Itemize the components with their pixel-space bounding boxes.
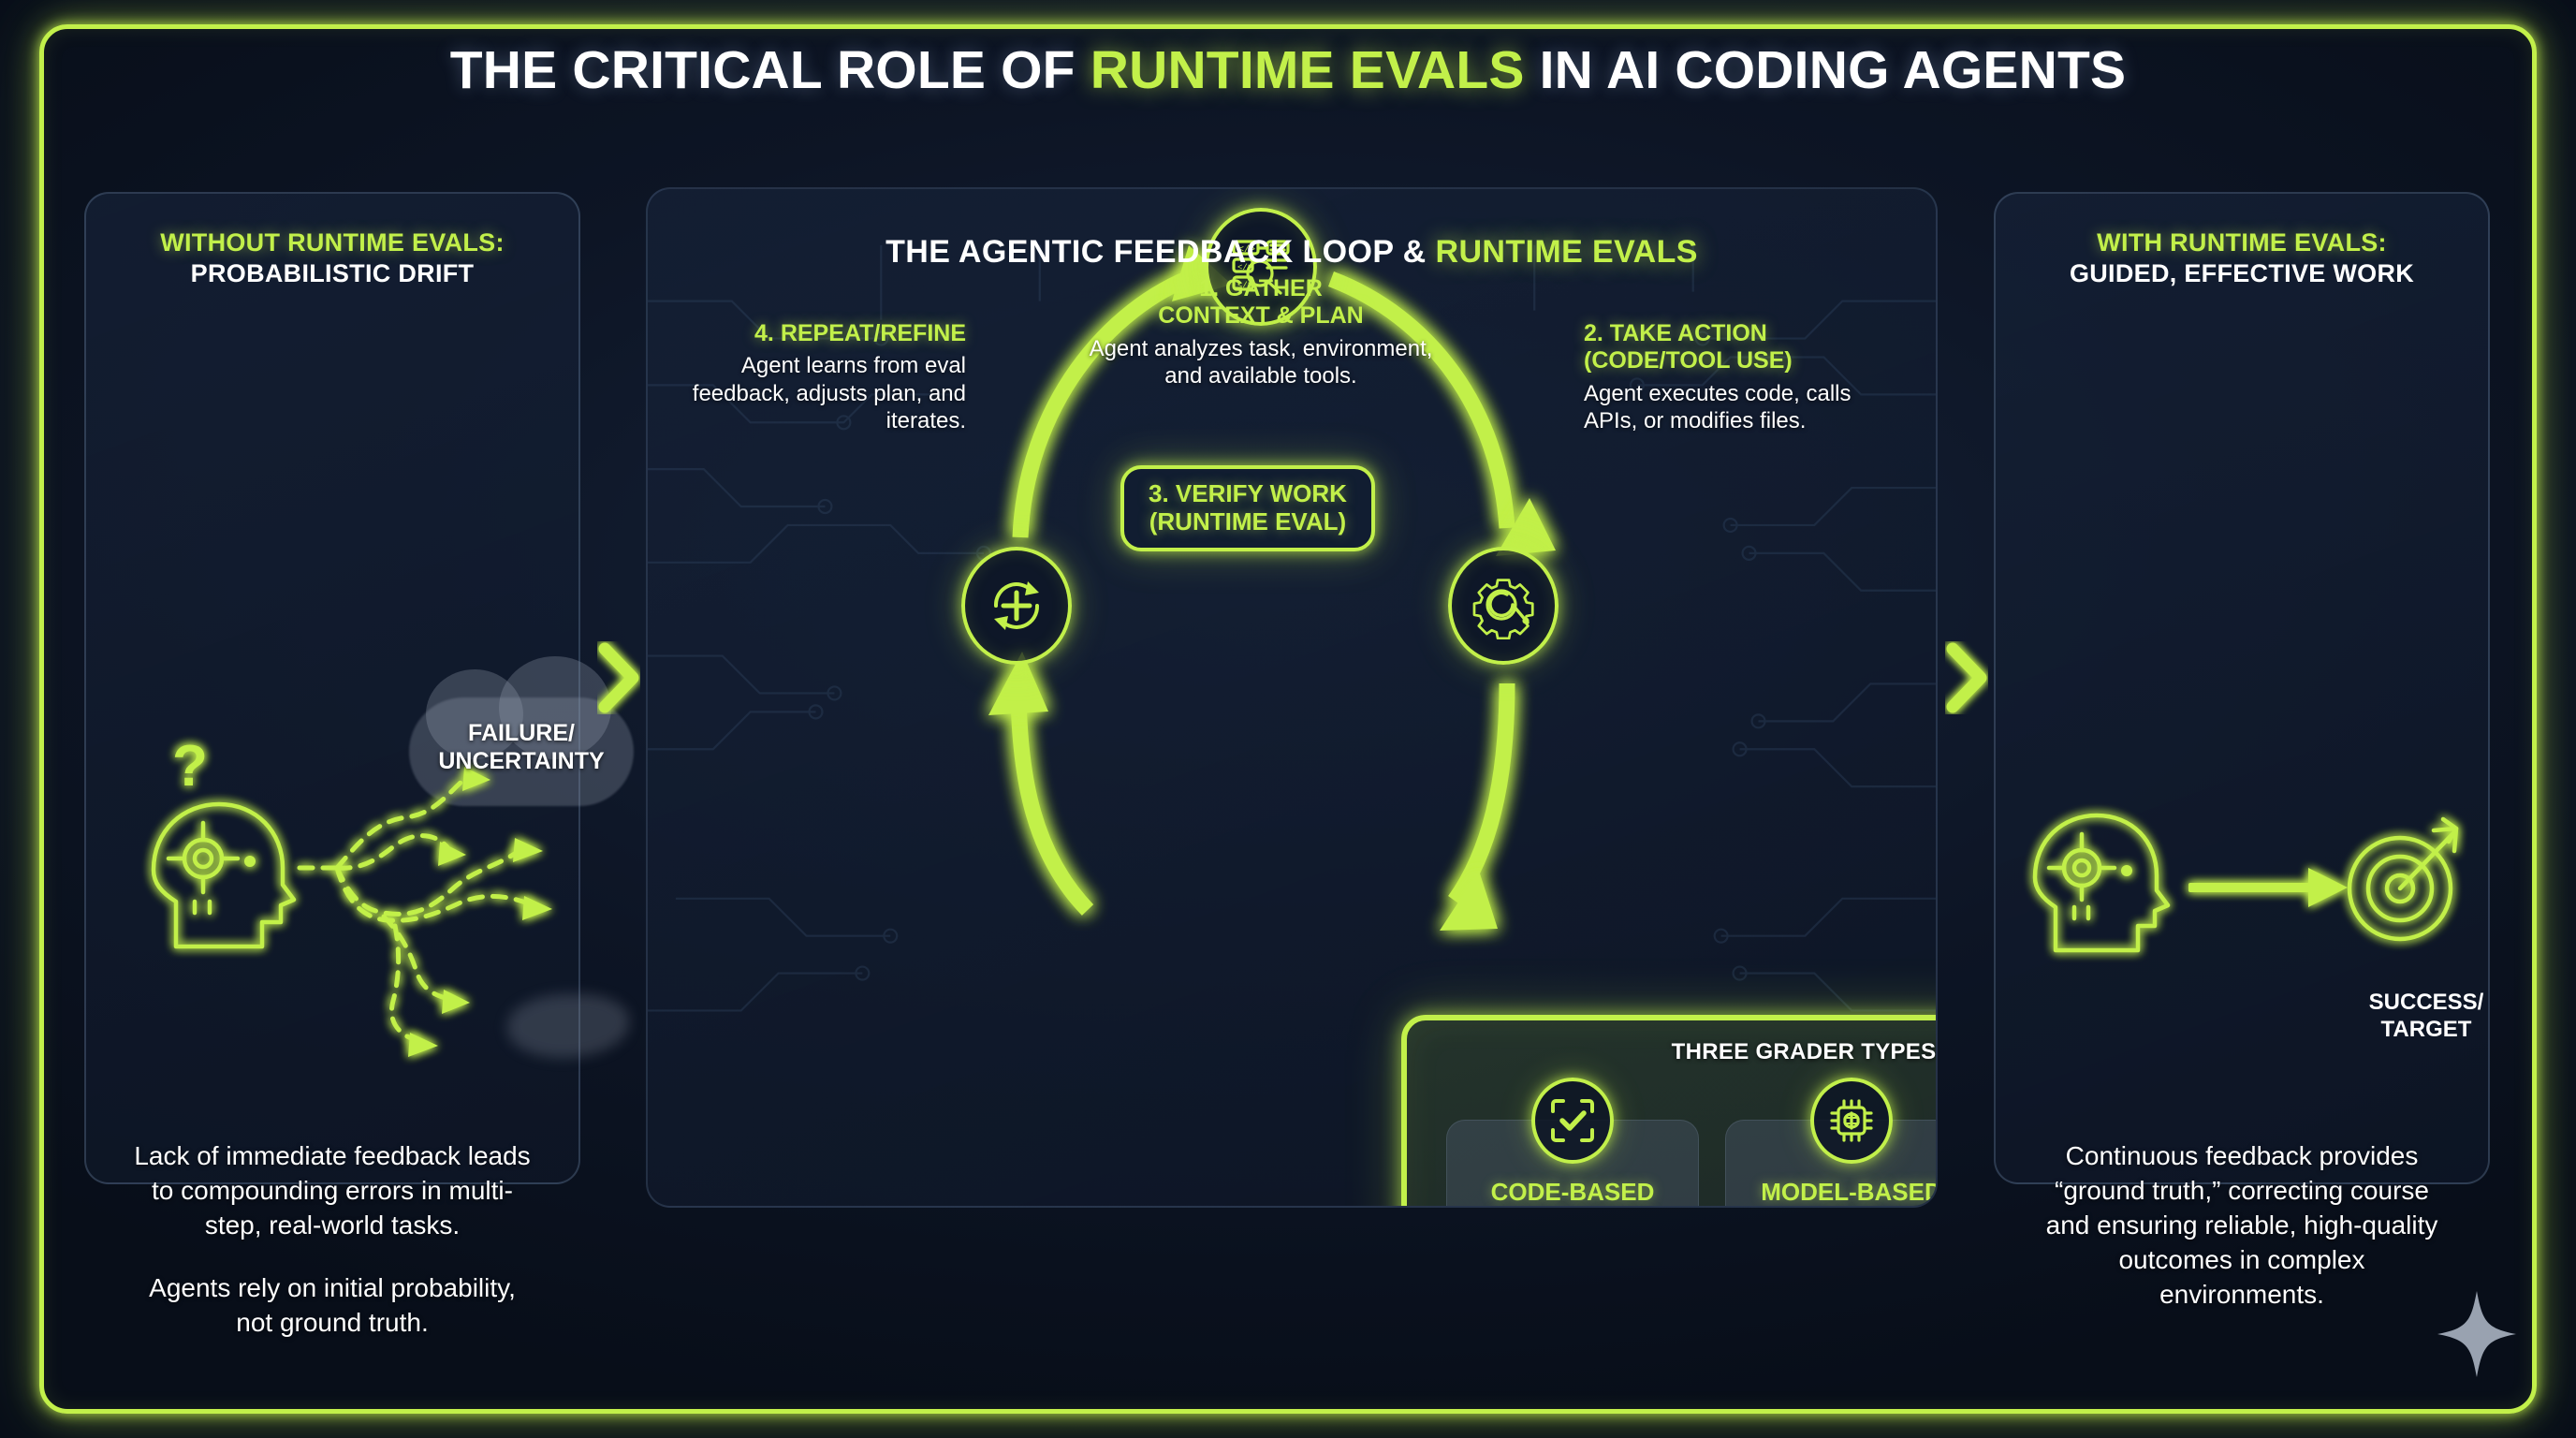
ai-head-icon bbox=[2035, 815, 2168, 950]
right-panel-title: WITH RUNTIME EVALS: GUIDED, EFFECTIVE WO… bbox=[1996, 227, 2488, 290]
cloud-label-line2: UNCERTAINTY bbox=[438, 748, 604, 774]
target-dart-icon bbox=[2349, 819, 2456, 939]
left-body-2: Agents rely on initial probability, not … bbox=[127, 1271, 537, 1341]
left-panel-title: WITHOUT RUNTIME EVALS: PROBABILISTIC DRI… bbox=[86, 227, 578, 290]
right-title-line2: GUIDED, EFFECTIVE WORK bbox=[1996, 258, 2488, 289]
grader-types-panel: THREE GRADER TYPES (ANTHROPIC FRAMEWORK) bbox=[1401, 1015, 1938, 1208]
checkbox-scan-icon bbox=[1531, 1078, 1614, 1164]
grader-code-title: CODE-BASED bbox=[1447, 1179, 1698, 1206]
page-title: THE CRITICAL ROLE OF RUNTIME EVALS IN AI… bbox=[0, 39, 2576, 101]
ai-head-icon bbox=[154, 804, 294, 946]
header: THE CRITICAL ROLE OF RUNTIME EVALS IN AI… bbox=[0, 39, 2576, 101]
step2-body: Agent executes code, calls APIs, or modi… bbox=[1584, 380, 1893, 435]
step1-text: 1. GATHER CONTEXT & PLAN Agent analyzes … bbox=[1083, 275, 1439, 389]
arc-3-to-4 bbox=[1018, 683, 1088, 910]
drift-arrowheads bbox=[408, 767, 552, 1057]
step4-body: Agent learns from eval feedback, adjusts… bbox=[666, 352, 966, 434]
success-diagram bbox=[1996, 774, 2492, 999]
grader-model-title: MODEL-BASED bbox=[1726, 1179, 1938, 1206]
infographic-root: THE CRITICAL ROLE OF RUNTIME EVALS IN AI… bbox=[0, 0, 2576, 1438]
chip-brain-icon bbox=[1810, 1078, 1893, 1164]
step4-icon-circle bbox=[961, 547, 1072, 665]
step4-head: 4. REPEAT/REFINE bbox=[666, 320, 966, 347]
center-panel-title: THE AGENTIC FEEDBACK LOOP & RUNTIME EVAL… bbox=[648, 234, 1936, 271]
step1-head-l1: 1. GATHER bbox=[1199, 275, 1323, 301]
arc-2-to-3 bbox=[1455, 683, 1507, 901]
grader-card-code-based[interactable]: CODE-BASED (DETERMINISTIC) Fast, Objecti… bbox=[1446, 1120, 1699, 1208]
step2-text: 2. TAKE ACTION (CODE/TOOL USE) Agent exe… bbox=[1584, 320, 1893, 434]
step1-head-l2: CONTEXT & PLAN bbox=[1158, 302, 1363, 329]
center-title-part1: THE AGENTIC FEEDBACK LOOP & bbox=[885, 234, 1435, 270]
left-body-1: Lack of immediate feedback leads to comp… bbox=[127, 1139, 537, 1243]
question-mark-icon: ? bbox=[172, 734, 208, 799]
step2-head: 2. TAKE ACTION (CODE/TOOL USE) bbox=[1584, 320, 1893, 375]
success-line1: SUCCESS/ bbox=[2369, 990, 2484, 1015]
right-title-line1: WITH RUNTIME EVALS: bbox=[1996, 227, 2488, 258]
title-highlight: RUNTIME EVALS bbox=[1090, 40, 1525, 100]
left-title-line2: PROBABILISTIC DRIFT bbox=[86, 258, 578, 289]
success-line2: TARGET bbox=[2381, 1017, 2472, 1042]
step2-head-l1: 2. TAKE ACTION bbox=[1584, 320, 1767, 346]
cloud-label-line1: FAILURE/ bbox=[468, 720, 575, 746]
left-title-line1: WITHOUT RUNTIME EVALS: bbox=[86, 227, 578, 258]
left-panel-body: Lack of immediate feedback leads to comp… bbox=[127, 1139, 537, 1341]
drift-arrows-icon bbox=[300, 776, 528, 1040]
sparkle-icon bbox=[2434, 1287, 2520, 1381]
grader-heading: THREE GRADER TYPES (ANTHROPIC FRAMEWORK) bbox=[1407, 1039, 1938, 1065]
chevron-right-icon bbox=[1945, 641, 1988, 714]
right-panel-body: Continuous feedback provides “ground tru… bbox=[2033, 1139, 2451, 1313]
success-target-label: SUCCESS/ TARGET bbox=[2333, 990, 2520, 1044]
straight-arrow-icon bbox=[2188, 868, 2348, 907]
chevron-right-icon bbox=[597, 641, 640, 714]
title-part2: IN AI CODING AGENTS bbox=[1525, 40, 2127, 100]
verify-badge-l2: (RUNTIME EVAL) bbox=[1149, 507, 1346, 536]
center-panel: THE AGENTIC FEEDBACK LOOP & RUNTIME EVAL… bbox=[646, 187, 1938, 1208]
step4-text: 4. REPEAT/REFINE Agent learns from eval … bbox=[666, 320, 966, 434]
title-part1: THE CRITICAL ROLE OF bbox=[450, 40, 1090, 100]
center-title-highlight: RUNTIME EVALS bbox=[1435, 234, 1697, 270]
verify-badge-l1: 3. VERIFY WORK bbox=[1149, 479, 1347, 507]
step2-head-l2: (CODE/TOOL USE) bbox=[1584, 347, 1793, 374]
cloud-label: FAILURE/ UNCERTAINTY bbox=[409, 720, 634, 775]
svg-text:?: ? bbox=[172, 734, 208, 799]
step1-head: 1. GATHER CONTEXT & PLAN bbox=[1083, 275, 1439, 330]
gear-wrench-icon bbox=[1470, 572, 1537, 639]
right-panel: WITH RUNTIME EVALS: GUIDED, EFFECTIVE WO… bbox=[1994, 192, 2490, 1184]
left-panel: WITHOUT RUNTIME EVALS: PROBABILISTIC DRI… bbox=[84, 192, 580, 1184]
verify-work-badge[interactable]: 3. VERIFY WORK (RUNTIME EVAL) bbox=[1120, 465, 1375, 551]
grader-card-model-based[interactable]: MODEL-BASED (LLM) Nuanced, Flexible. Cod… bbox=[1725, 1120, 1938, 1208]
refresh-plus-icon bbox=[983, 572, 1050, 639]
step2-icon-circle bbox=[1448, 547, 1559, 665]
step1-body: Agent analyzes task, environment, and av… bbox=[1083, 335, 1439, 390]
